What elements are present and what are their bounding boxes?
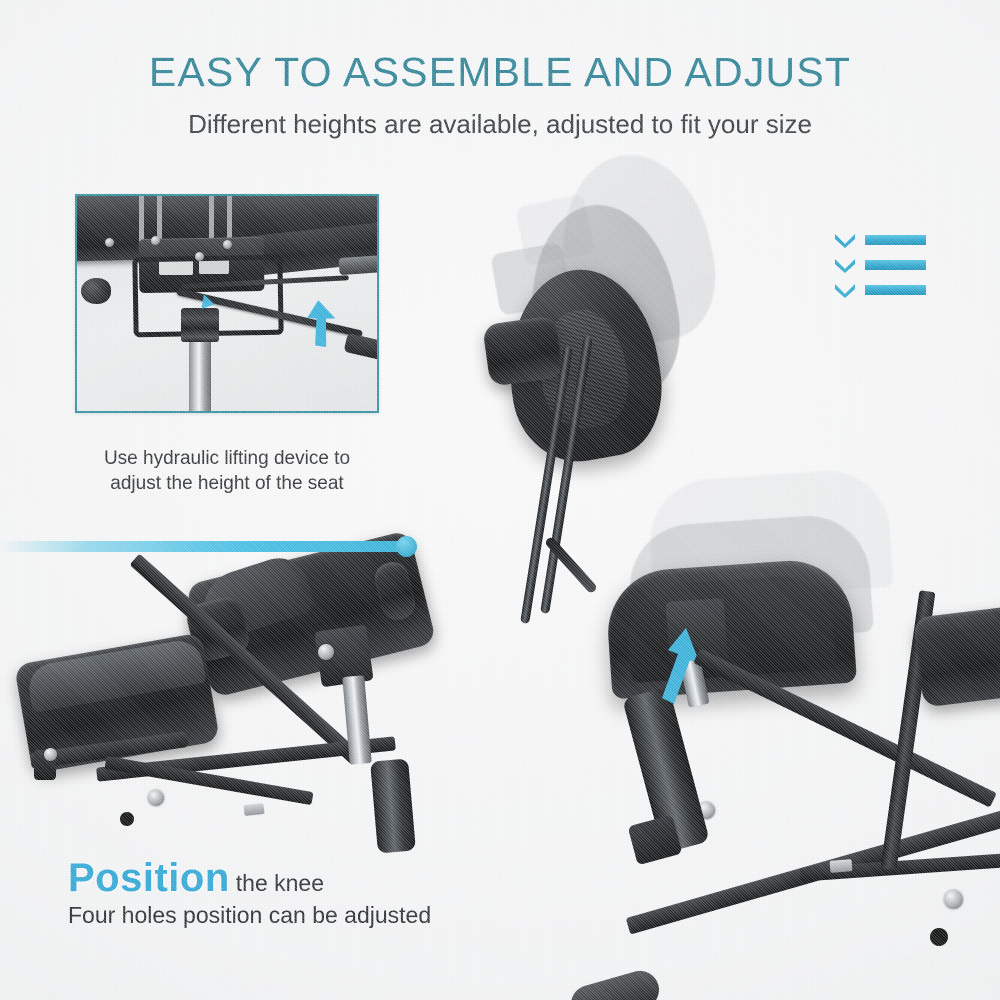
motif-bar xyxy=(865,285,926,295)
page-title: EASY TO ASSEMBLE AND ADJUST xyxy=(0,52,1000,93)
chevron-down-icon xyxy=(834,233,856,248)
position-caption: Positionthe knee xyxy=(68,856,324,901)
frame-label-tag xyxy=(830,859,853,873)
position-caption-rest: the knee xyxy=(236,870,324,896)
inset-screw-3 xyxy=(195,252,204,261)
frame-hole xyxy=(930,928,948,946)
rear-roller-bar xyxy=(567,966,664,1000)
inset-screw-4 xyxy=(223,240,232,249)
chevron-bullet-motif xyxy=(834,232,934,300)
position-caption-highlight: Position xyxy=(68,856,230,900)
motif-bar xyxy=(865,260,926,270)
position-caption-sub: Four holes position can be adjusted xyxy=(68,902,431,929)
frame-pivot-bolt xyxy=(944,890,963,909)
inset-adjustment-lever-grip xyxy=(338,254,379,275)
hydraulic-caption: Use hydraulic lifting device to adjust t… xyxy=(72,446,382,497)
inset-hook-2 xyxy=(209,194,232,239)
lf-frame-label-tag xyxy=(243,803,264,816)
kneeling-chair-knee-position-photo xyxy=(0,556,470,856)
inset-screw-1 xyxy=(105,238,114,247)
chevron-down-icon xyxy=(834,258,856,273)
inset-release-lever-grip xyxy=(344,333,379,364)
backrest-mount-pad xyxy=(482,315,564,387)
chevron-down-icon xyxy=(834,283,856,298)
lf-frame-pivot-bolt xyxy=(148,790,164,806)
infographic-canvas: EASY TO ASSEMBLE AND ADJUST Different he… xyxy=(0,0,1000,1000)
lf-gas-cylinder xyxy=(370,759,416,854)
lf-stem-bolt xyxy=(318,644,334,660)
motif-bar xyxy=(865,235,926,245)
inset-lever-arrow-icon xyxy=(303,300,337,348)
motif-row xyxy=(834,257,934,275)
knee-pad-right xyxy=(913,602,1000,707)
motif-row xyxy=(834,232,934,250)
inset-knob xyxy=(81,278,111,304)
inset-column-collar xyxy=(181,308,219,342)
gas-cylinder-base xyxy=(628,815,683,866)
cyan-divider-dot xyxy=(396,536,417,557)
hydraulic-lever-closeup xyxy=(75,194,379,413)
lf-frame-hole xyxy=(120,812,134,826)
inset-hook-1 xyxy=(139,194,162,241)
cyan-divider-line xyxy=(0,541,404,552)
hydraulic-caption-line2: adjust the height of the seat xyxy=(72,471,382,496)
inset-screw-2 xyxy=(151,236,160,245)
hydraulic-caption-line1: Use hydraulic lifting device to xyxy=(72,446,382,471)
lf-knee-pad-bolt xyxy=(44,748,57,761)
motif-row xyxy=(834,282,934,300)
page-subtitle: Different heights are available, adjuste… xyxy=(0,110,1000,140)
